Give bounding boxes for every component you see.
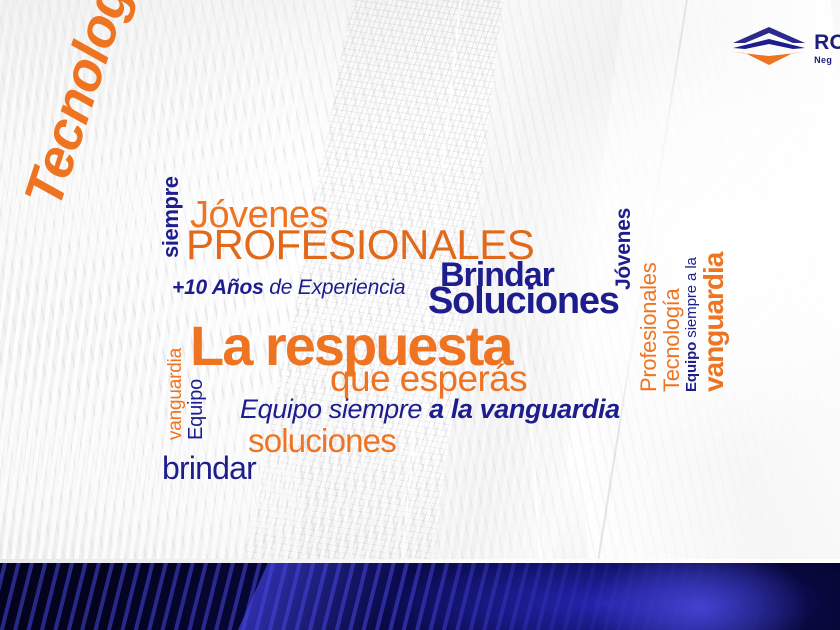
anos-bold: +10 Años xyxy=(172,276,264,299)
word-siempre-vertical: siempre xyxy=(160,176,182,258)
line-anos-experiencia: +10 Años de Experiencia xyxy=(172,277,405,298)
word-equipo-vertical: Equipo xyxy=(186,379,206,440)
footer-stripes xyxy=(0,563,840,630)
word-tecnologia-vertical: Tecnología xyxy=(661,289,683,392)
company-logo[interactable]: RO Neg xyxy=(731,24,840,70)
anos-rest: de Experiencia xyxy=(264,276,406,299)
line-equipo-siempre-vertical: Equipo siempre a la xyxy=(684,257,699,392)
word-vanguardia-big-vertical: vanguardia xyxy=(700,253,728,392)
equipo-line-regular: Equipo siempre xyxy=(240,394,429,424)
word-soluciones-small: soluciones xyxy=(248,424,396,457)
logo-name: RO xyxy=(814,32,840,53)
stacked-chevrons-logo-icon xyxy=(731,24,807,70)
line-equipo-vanguardia: Equipo siempre a la vanguardia xyxy=(240,396,620,423)
headline-que-esperas: que esperás xyxy=(330,360,527,397)
footer-band xyxy=(0,563,840,630)
word-brindar-small: brindar xyxy=(162,452,256,484)
word-jovenes-vertical: Jóvenes xyxy=(613,208,634,290)
slide-canvas: RO Neg Tecnología siempre vanguardia Equ… xyxy=(0,0,840,630)
word-profesionales-vertical: Profesionales xyxy=(638,263,660,392)
logo-tagline: Neg xyxy=(814,56,840,65)
word-vanguardia-vertical: vanguardia xyxy=(166,348,185,440)
logo-text-block: RO Neg xyxy=(814,30,840,65)
equipo-line-bold: a la vanguardia xyxy=(429,394,620,424)
